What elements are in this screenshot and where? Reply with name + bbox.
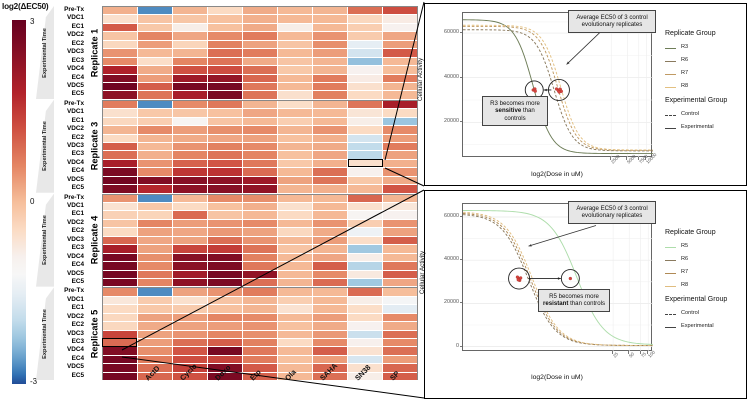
inset-top-callout-average: Average EC50 of 3 control evolutionary r… [568, 10, 656, 33]
inset-x-tick-mark [628, 351, 629, 354]
inset-top-x-label: log2(Dose in uM) [462, 171, 652, 178]
callout-top-pre: R3 becomes more [490, 100, 540, 107]
callout-bottom-post: than controls [568, 300, 605, 307]
legend-line-swatch [665, 286, 676, 287]
inset-x-tick-mark [647, 351, 648, 354]
inset-y-tick: 0 [432, 343, 459, 349]
legend-line-swatch [665, 314, 676, 315]
inset-bottom-plot-area [462, 203, 652, 351]
inset-bottom-curves [463, 204, 653, 352]
inset-y-tick: 40000 [432, 74, 459, 80]
inset-top-plot-area [462, 12, 652, 157]
inset-x-tick-mark [610, 157, 611, 160]
inset-bottom-callout-average: Average EC50 of 3 control evolutionary r… [568, 201, 656, 224]
inset-y-tick: 20000 [432, 299, 459, 305]
legend-replicate-label[interactable]: R3 [681, 44, 688, 50]
inset-panel-top: Cellular Activity log2(Dose in uM) 20000… [424, 3, 747, 186]
legend-line-swatch [665, 48, 676, 49]
inset-x-tick: 75 [640, 351, 647, 358]
inset-top-legend-replicate-title: Replicate Group [665, 30, 716, 37]
inset-bottom-legend-experiment-title: Experimental Group [665, 296, 727, 303]
inset-x-tick-mark [645, 157, 646, 160]
inset-y-tick: 60000 [432, 213, 459, 219]
callout-bottom-pre: R5 becomes more [549, 293, 599, 300]
inset-y-tick-mark [460, 216, 463, 217]
legend-replicate-label[interactable]: R6 [681, 57, 688, 63]
callout-top-bold: sensitive [495, 107, 521, 114]
inset-x-tick-mark [638, 157, 639, 160]
legend-replicate-label[interactable]: R6 [681, 256, 688, 262]
figure-root: log2(ΔEC50) 3 0 -3 Experimental TimePre-… [0, 0, 749, 402]
inset-y-tick: 20000 [432, 118, 459, 124]
legend-experiment-label[interactable]: Control [681, 111, 699, 117]
inset-x-tick: 25 [612, 351, 619, 358]
inset-top-legend-experiment-title: Experimental Group [665, 97, 727, 104]
inset-y-tick-mark [460, 302, 463, 303]
legend-line-swatch [665, 247, 676, 248]
inset-x-tick-mark [640, 351, 641, 354]
inset-bottom-callout-main: R5 becomes more resistant than controls [538, 289, 610, 312]
inset-bottom-y-label: Cellular Activity [419, 251, 426, 294]
legend-line-swatch [665, 74, 676, 75]
legend-replicate-label[interactable]: R8 [681, 282, 688, 288]
legend-line-swatch [665, 260, 676, 261]
inset-y-tick-mark [460, 259, 463, 260]
legend-replicate-label[interactable]: R7 [681, 70, 688, 76]
legend-experiment-label[interactable]: Experimental [681, 124, 714, 130]
legend-experiment-label[interactable]: Control [681, 310, 699, 316]
legend-line-swatch [665, 61, 676, 62]
inset-y-tick: 40000 [432, 256, 459, 262]
inset-top-y-label: Cellular Activity [417, 58, 424, 101]
inset-top-curves [463, 13, 653, 158]
legend-replicate-label[interactable]: R5 [681, 243, 688, 249]
inset-y-tick-mark [460, 77, 463, 78]
legend-line-swatch [665, 115, 676, 116]
inset-bottom-x-label: log2(Dose in uM) [462, 374, 652, 381]
callout-bottom-bold: resistant [543, 300, 568, 307]
inset-bottom-legend-replicate-title: Replicate Group [665, 229, 716, 236]
inset-x-tick-mark [626, 157, 627, 160]
inset-top-callout-main: R3 becomes more sensitive than controls [482, 96, 548, 126]
legend-line-swatch [665, 327, 676, 328]
inset-y-tick-mark [460, 346, 463, 347]
inset-x-tick-mark [612, 351, 613, 354]
legend-line-swatch [665, 273, 676, 274]
inset-y-tick-mark [460, 32, 463, 33]
legend-replicate-label[interactable]: R7 [681, 269, 688, 275]
legend-replicate-label[interactable]: R8 [681, 83, 688, 89]
legend-line-swatch [665, 128, 676, 129]
inset-panel-bottom: Cellular Activity log2(Dose in uM) 02000… [424, 190, 747, 399]
inset-y-tick-mark [460, 121, 463, 122]
legend-line-swatch [665, 87, 676, 88]
inset-y-tick: 60000 [432, 29, 459, 35]
legend-experiment-label[interactable]: Experimental [681, 323, 714, 329]
inset-x-tick: 50 [628, 351, 635, 358]
